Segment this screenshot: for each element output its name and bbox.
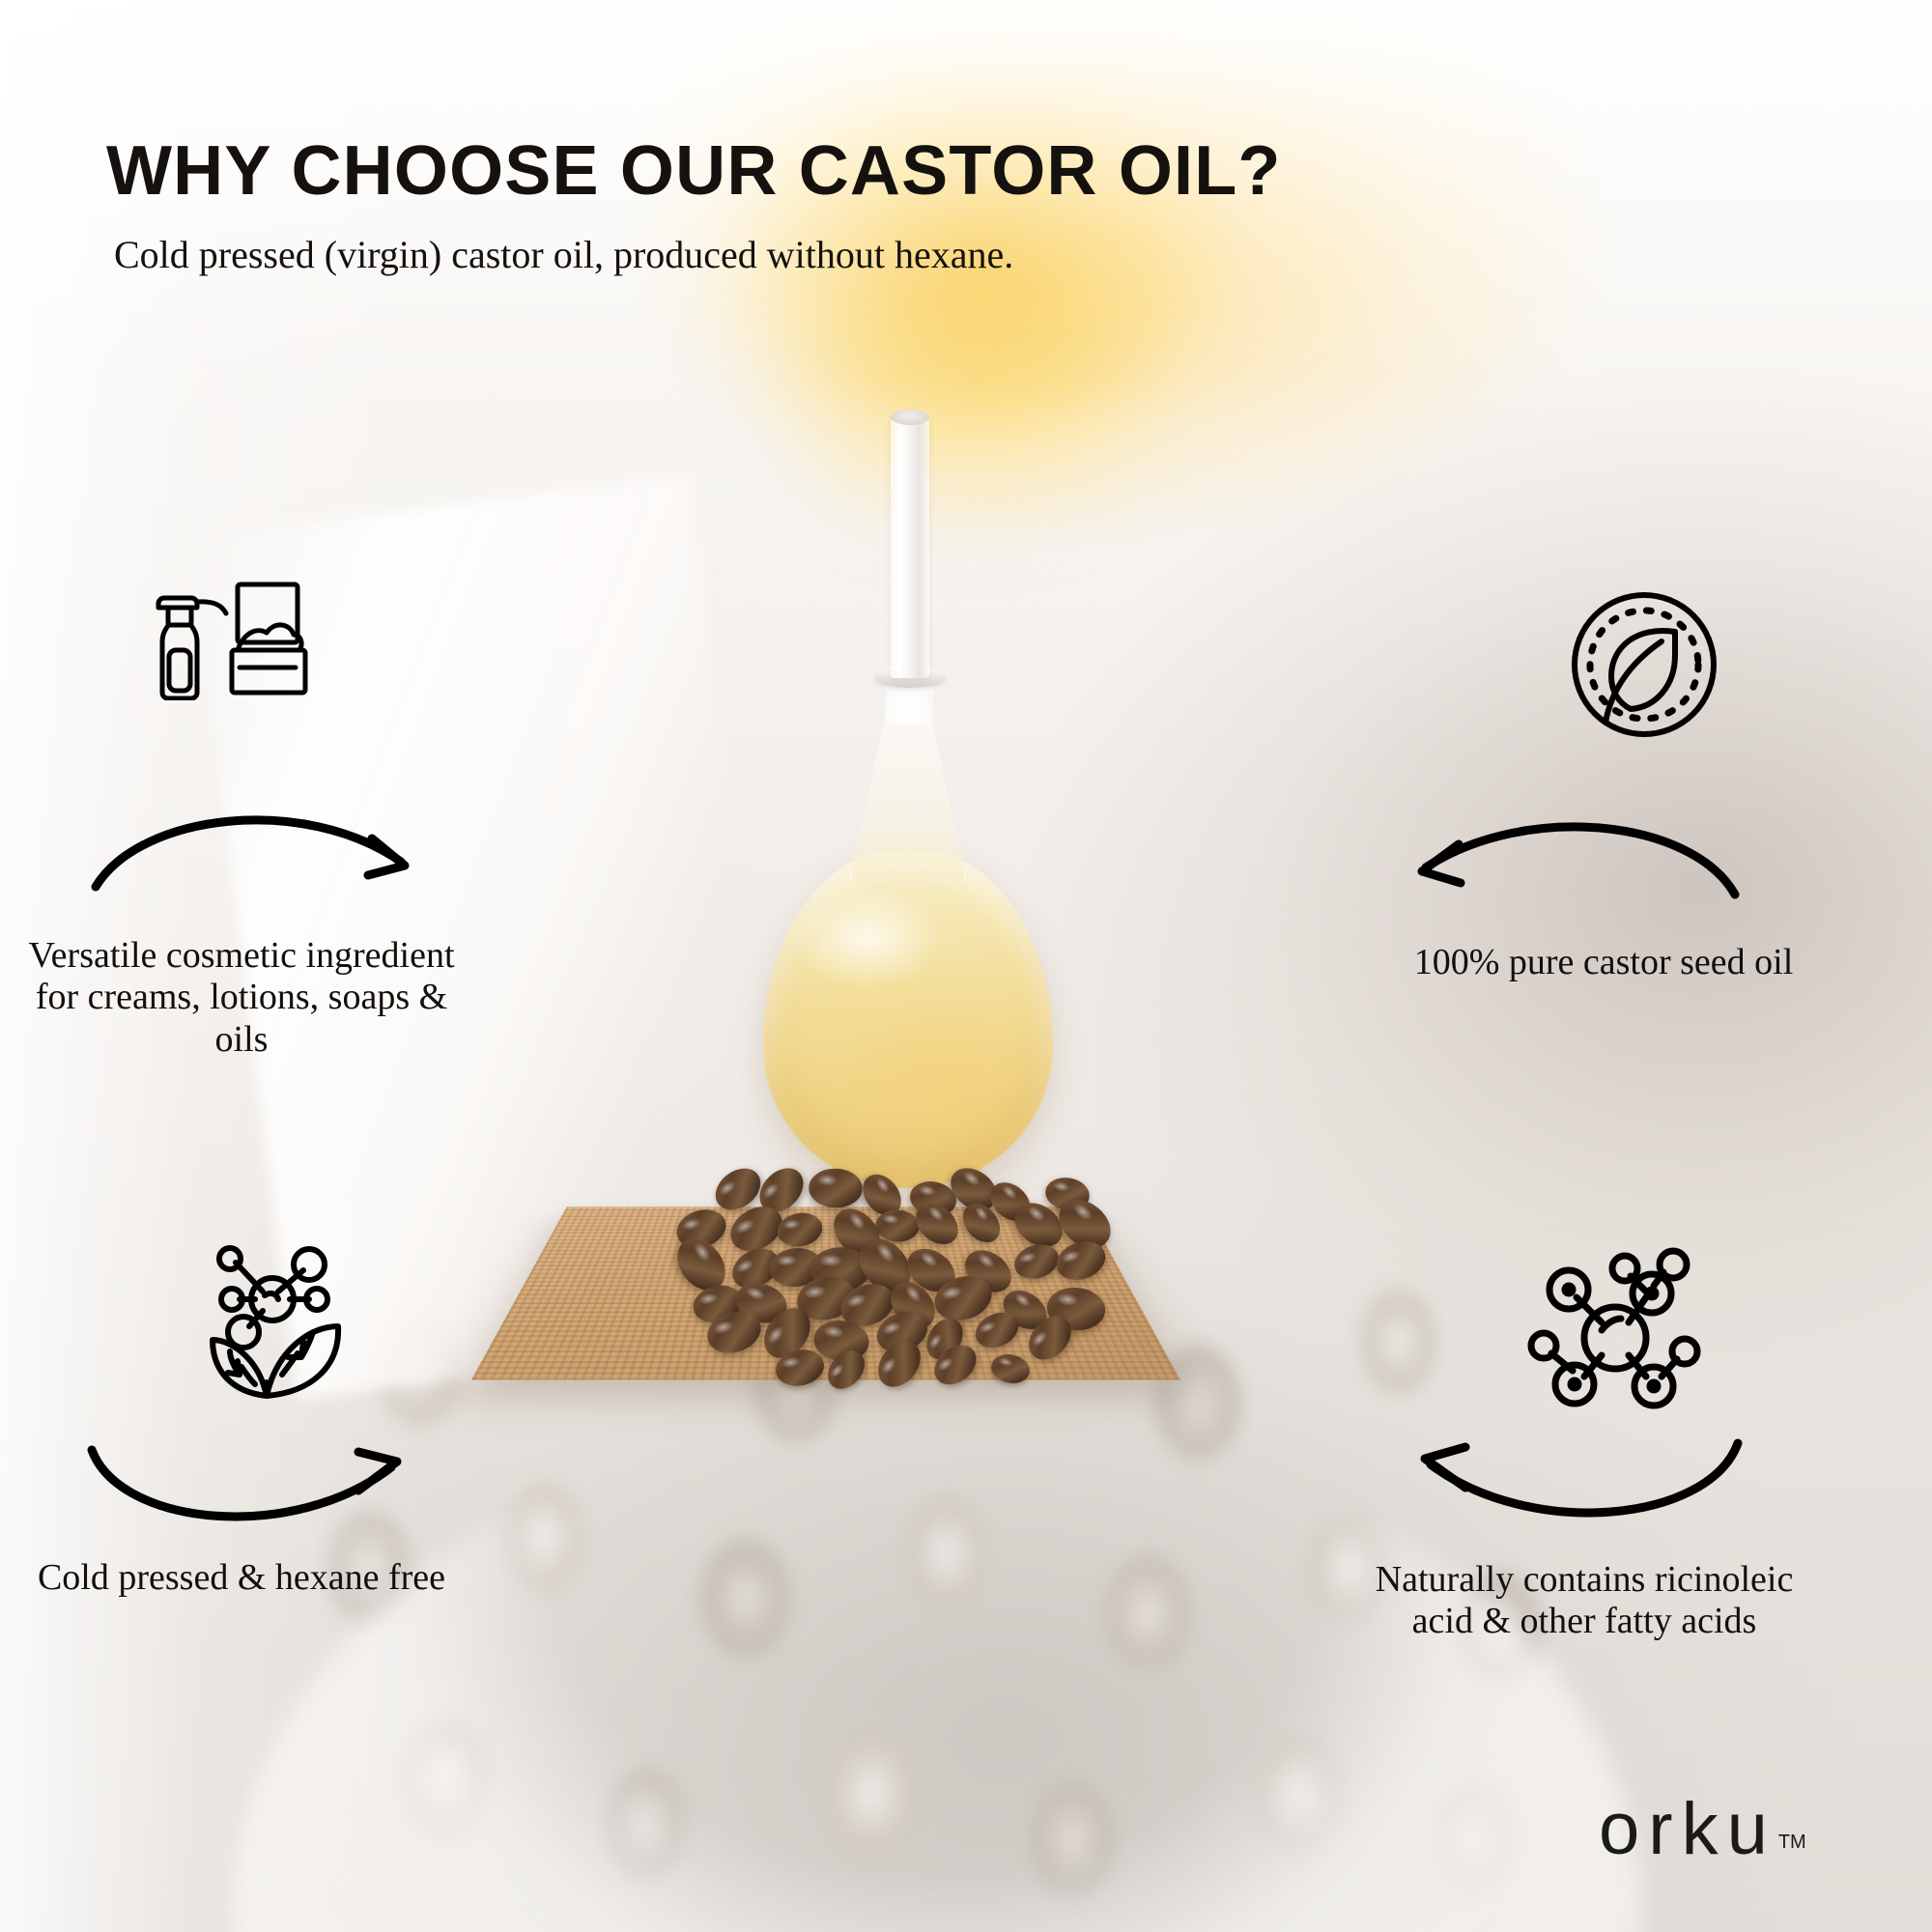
feature-fatty-acids: Naturally contains ricinoleic acid & oth…	[1343, 1559, 1826, 1643]
feature-fatty-acids-label: Naturally contains ricinoleic acid & oth…	[1343, 1559, 1826, 1643]
arrow-to-fatty-acids-text	[1386, 1410, 1748, 1546]
brand-logo-name: orku	[1599, 1788, 1776, 1870]
cosmetic-bottles-icon	[145, 546, 338, 700]
feature-pure-label: 100% pure castor seed oil	[1401, 942, 1806, 983]
molecule-icon	[1517, 1241, 1719, 1425]
trademark-symbol: TM	[1778, 1832, 1806, 1853]
feature-cosmetic: Versatile cosmetic ingredient for creams…	[19, 935, 464, 1061]
molecule-leaf-icon	[162, 1241, 355, 1415]
page-subtitle: Cold pressed (virgin) castor oil, produc…	[114, 232, 1013, 277]
infographic-canvas: WHY CHOOSE OUR CASTOR OIL? Cold pressed …	[0, 0, 1932, 1932]
brand-logo: orkuTM	[1599, 1787, 1806, 1871]
arrow-to-cold-pressed-icon	[82, 1415, 430, 1550]
leaf-seal-icon	[1567, 587, 1721, 742]
arrow-to-cosmetic-icon	[82, 792, 430, 918]
arrow-to-pure-text	[1391, 802, 1748, 927]
feature-cold-pressed-label: Cold pressed & hexane free	[19, 1557, 464, 1599]
feature-cold-pressed: Cold pressed & hexane free	[19, 1557, 464, 1599]
feature-cosmetic-label: Versatile cosmetic ingredient for creams…	[19, 935, 464, 1061]
page-title: WHY CHOOSE OUR CASTOR OIL?	[106, 131, 1282, 211]
feature-pure: 100% pure castor seed oil	[1401, 942, 1806, 983]
